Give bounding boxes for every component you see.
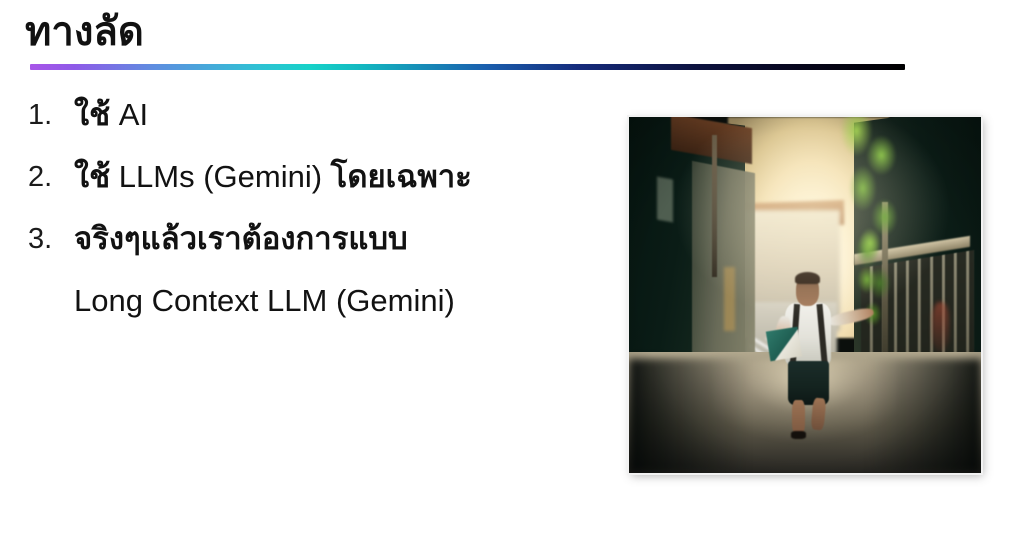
photo-student-leg-left bbox=[792, 400, 805, 434]
list-item-text-thai: จริงๆแล้วเราต้องการแบบ bbox=[74, 221, 408, 256]
list-item-number: 3. bbox=[28, 216, 66, 262]
photo-student-hair bbox=[795, 272, 820, 285]
list-item-text: ใช้ AI bbox=[74, 92, 608, 138]
title-gradient-divider bbox=[30, 64, 905, 70]
list-item-text: ใช้ LLMs (Gemini) โดยเฉพาะ bbox=[74, 154, 608, 200]
slide-photo bbox=[629, 117, 981, 473]
photo-ground-shadow-left bbox=[629, 359, 749, 473]
list-item-text-thai-tail: โดยเฉพาะ bbox=[331, 159, 472, 194]
photo-right-rust-stain bbox=[932, 302, 950, 352]
photo-scene-alley-student bbox=[629, 117, 981, 473]
list-item-text-continuation: Long Context LLM (Gemini) bbox=[74, 278, 608, 324]
list-item-body: จริงๆแล้วเราต้องการแบบ Long Context LLM … bbox=[66, 216, 608, 324]
list-item-number: 2. bbox=[28, 154, 66, 200]
photo-student-books bbox=[766, 327, 802, 362]
bullet-list: 1. ใช้ AI 2. ใช้ LLMs (Gemini) โดยเฉพาะ … bbox=[28, 92, 608, 340]
list-item: 2. ใช้ LLMs (Gemini) โดยเฉพาะ bbox=[28, 154, 608, 200]
list-item: 3. จริงๆแล้วเราต้องการแบบ Long Context L… bbox=[28, 216, 608, 324]
list-item-text: จริงๆแล้วเราต้องการแบบ bbox=[74, 216, 608, 262]
photo-student-shoe bbox=[791, 431, 806, 439]
list-item-body: ใช้ AI bbox=[66, 92, 608, 138]
list-item: 1. ใช้ AI bbox=[28, 92, 608, 138]
list-item-text-latin: LLMs (Gemini) bbox=[119, 159, 331, 194]
photo-left-door bbox=[724, 267, 735, 331]
list-item-text-latin: AI bbox=[119, 97, 148, 132]
list-item-text-thai-lead: ใช้ bbox=[74, 159, 119, 194]
list-item-body: ใช้ LLMs (Gemini) โดยเฉพาะ bbox=[66, 154, 608, 200]
photo-ground-shadow-right bbox=[868, 359, 981, 473]
list-item-number: 1. bbox=[28, 92, 66, 138]
photo-left-window bbox=[657, 176, 673, 222]
slide-canvas: ทางลัด 1. ใช้ AI 2. ใช้ LLMs (Gemini) โด… bbox=[0, 0, 1024, 543]
photo-left-post bbox=[712, 135, 717, 277]
list-item-text-thai: ใช้ bbox=[74, 97, 119, 132]
page-title: ทางลัด bbox=[25, 6, 144, 58]
